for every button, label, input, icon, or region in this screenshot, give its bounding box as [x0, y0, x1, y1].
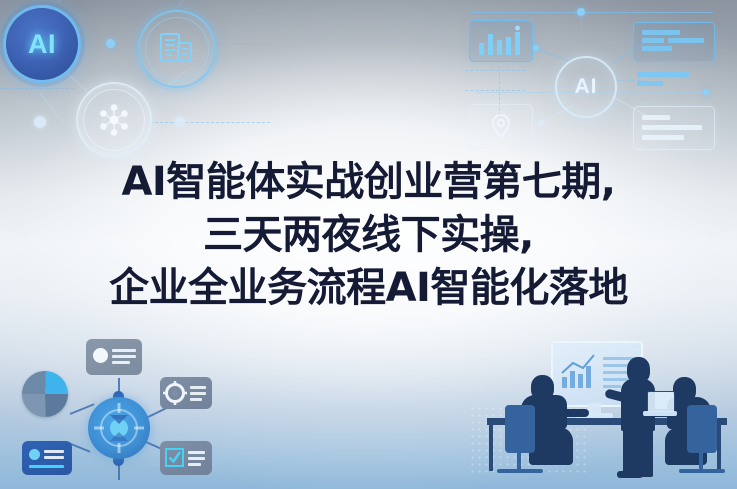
- connector-node: [106, 39, 115, 48]
- contact-card-top: [86, 339, 142, 375]
- text-line: [112, 349, 136, 352]
- person-standing-legs: [623, 427, 653, 477]
- text-line: [637, 72, 689, 77]
- documents-ring: [138, 10, 216, 88]
- chair-right-back: [687, 405, 717, 453]
- title-line-1: AI智能体实战创业营第七期,: [0, 156, 737, 209]
- connector-line: [178, 0, 211, 7]
- text-line: [642, 115, 670, 120]
- documents-icon: [159, 31, 195, 67]
- text-line: [642, 38, 664, 43]
- pie-chart-icon: [22, 371, 68, 417]
- molecule-network-icon: [95, 101, 133, 139]
- text-lines-middle: [637, 72, 715, 90]
- text-line: [188, 457, 205, 460]
- connector-node: [538, 120, 544, 126]
- text-line: [190, 398, 202, 401]
- text-line: [642, 125, 702, 130]
- laptop-screen: [647, 391, 675, 413]
- chair-left-back: [505, 405, 535, 453]
- person-seated-left-arm: [561, 409, 589, 417]
- laptop-icon: [643, 391, 677, 419]
- ai-badge-left: AI: [6, 8, 78, 80]
- bar-chart-card: [469, 20, 533, 62]
- chair-right-post: [699, 451, 703, 471]
- connector-node: [175, 117, 185, 127]
- connector-line: [0, 88, 74, 89]
- person-seated-left-legs: [529, 427, 573, 465]
- avatar: [29, 449, 40, 460]
- connector-line: [465, 90, 525, 91]
- connector-rail: [469, 12, 713, 13]
- connector-node: [533, 45, 539, 51]
- connector-line: [58, 0, 88, 3]
- text-line: [642, 30, 680, 35]
- text-line: [637, 81, 663, 86]
- location-card: [469, 104, 533, 148]
- contact-card-bottom: [22, 441, 72, 475]
- chair-left-base: [497, 469, 543, 473]
- connector-node: [34, 116, 46, 128]
- ai-badge-left-label: AI: [28, 29, 56, 60]
- ai-badge-right: AI: [555, 56, 617, 118]
- connector-line: [150, 122, 270, 123]
- top-left-graphic-cluster: AI: [0, 0, 270, 175]
- checklist-card: [160, 441, 212, 475]
- text-line: [44, 456, 64, 459]
- bottom-right-office-scene: [477, 329, 737, 489]
- text-line: [44, 450, 64, 453]
- person-standing-foot: [617, 471, 643, 478]
- desk-leg: [489, 425, 493, 471]
- text-line: [112, 361, 130, 364]
- hub-node-icon: [88, 397, 150, 459]
- text-line: [642, 135, 684, 140]
- laptop-base: [643, 411, 677, 416]
- poster-title: AI智能体实战创业营第七期, 三天两夜线下实操, 企业全业务流程AI智能化落地: [0, 156, 737, 315]
- chair-left-post: [517, 451, 521, 471]
- text-line: [112, 355, 136, 358]
- chair-right-base: [679, 469, 725, 473]
- text-line: [188, 451, 205, 454]
- avatar: [93, 348, 108, 363]
- title-line-2: 三天两夜线下实操,: [0, 209, 737, 262]
- text-line: [188, 463, 201, 466]
- bar-chart-icon: [470, 21, 532, 61]
- top-right-graphic-cluster: AI: [437, 0, 737, 175]
- bottom-left-graphic-cluster: [0, 329, 250, 489]
- text-line: [668, 38, 704, 43]
- text-line: [190, 392, 206, 395]
- connector-line: [535, 48, 569, 61]
- location-pin-icon: [470, 105, 532, 147]
- settings-card: [160, 377, 212, 409]
- text-line: [29, 465, 64, 468]
- promo-poster: AI: [0, 0, 737, 489]
- molecule-ring: [76, 82, 152, 158]
- desk-leg: [717, 425, 721, 471]
- text-line: [190, 386, 206, 389]
- text-card-bottom: [633, 106, 715, 150]
- title-line-3: 企业全业务流程AI智能化落地: [0, 262, 737, 315]
- text-line: [642, 46, 672, 51]
- ai-badge-right-label: AI: [575, 75, 598, 99]
- connector-line: [581, 14, 582, 58]
- connector-line: [465, 70, 525, 71]
- text-card-top: [633, 22, 715, 62]
